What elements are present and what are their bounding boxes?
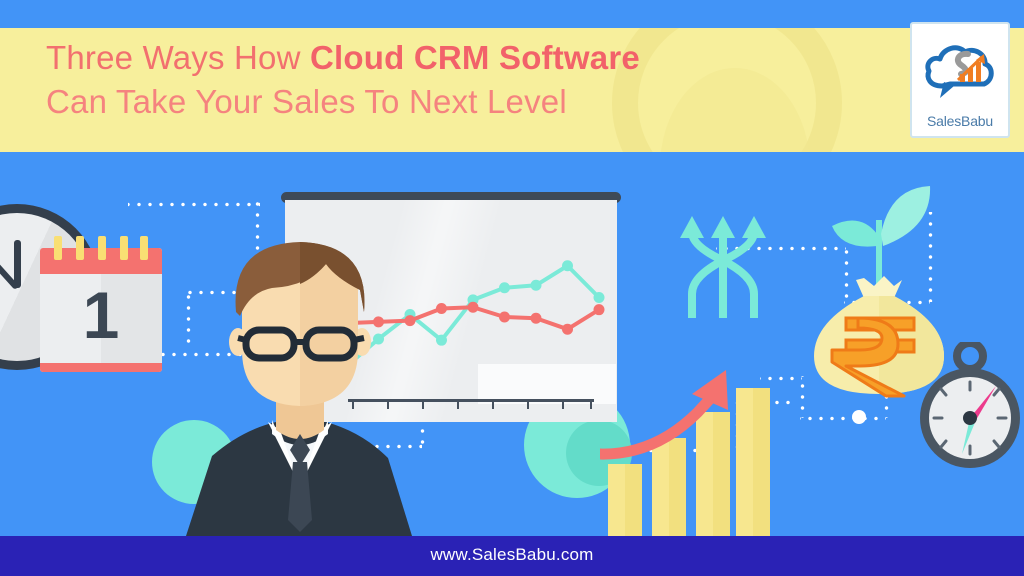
axis-tick [422, 402, 424, 409]
chart-point [531, 313, 542, 324]
chart-point [436, 335, 447, 346]
headline-prefix: Three Ways How [46, 39, 310, 76]
dotted-path-segment [800, 416, 886, 421]
calendar-footer [40, 363, 162, 372]
headline-strong: Cloud CRM Software [310, 39, 640, 76]
headline-line-1: Three Ways How Cloud CRM Software [46, 36, 640, 80]
chart-point [562, 324, 573, 335]
footer-bar: www.SalesBabu.com [0, 536, 1024, 576]
footer-url[interactable]: www.SalesBabu.com [0, 545, 1024, 565]
chart-point [531, 280, 542, 291]
sprout-leaf-right [881, 186, 930, 246]
chart-point [499, 312, 510, 323]
axis-tick [590, 402, 592, 409]
calendar-ring [98, 236, 106, 260]
logo-cloud-chart-icon [920, 30, 1000, 110]
calendar-ring [54, 236, 62, 260]
businessman-presenter [176, 234, 422, 536]
chart-point [436, 303, 447, 314]
arrow-head [680, 216, 704, 238]
compass-pivot [963, 411, 977, 425]
calendar-day-number: 1 [40, 279, 162, 351]
chart-point [594, 304, 605, 315]
compass [912, 342, 1024, 474]
calendar: 1 [40, 248, 162, 372]
calendar-ring [140, 236, 148, 260]
growth-bar-chart [600, 364, 770, 536]
axis-tick [562, 402, 564, 409]
sprout-leaf-left [832, 221, 877, 247]
axis-tick [457, 402, 459, 409]
top-blue-strip [0, 0, 1024, 28]
logo-brand-text: SalesBabu [912, 113, 1008, 129]
arrow-head [711, 216, 735, 238]
dotted-path-segment [128, 202, 260, 207]
chart-point [499, 282, 510, 293]
banner-image: Three Ways How Cloud CRM Software Can Ta… [0, 0, 1024, 576]
chart-point [468, 302, 479, 313]
node-dot [852, 410, 866, 424]
intertwined-arrows-icon [672, 214, 774, 318]
calendar-ring [76, 236, 84, 260]
calendar-ring [120, 236, 128, 260]
chart-point [594, 292, 605, 303]
illustration-stage: 1 [0, 152, 1024, 536]
headline: Three Ways How Cloud CRM Software Can Ta… [46, 36, 640, 124]
salesbabu-logo[interactable]: SalesBabu [910, 22, 1010, 138]
headline-line-2: Can Take Your Sales To Next Level [46, 80, 640, 124]
arrow-head [742, 216, 766, 238]
axis-tick [492, 402, 494, 409]
axis-tick [527, 402, 529, 409]
chart-point [562, 260, 573, 271]
compass-loop [957, 343, 983, 369]
